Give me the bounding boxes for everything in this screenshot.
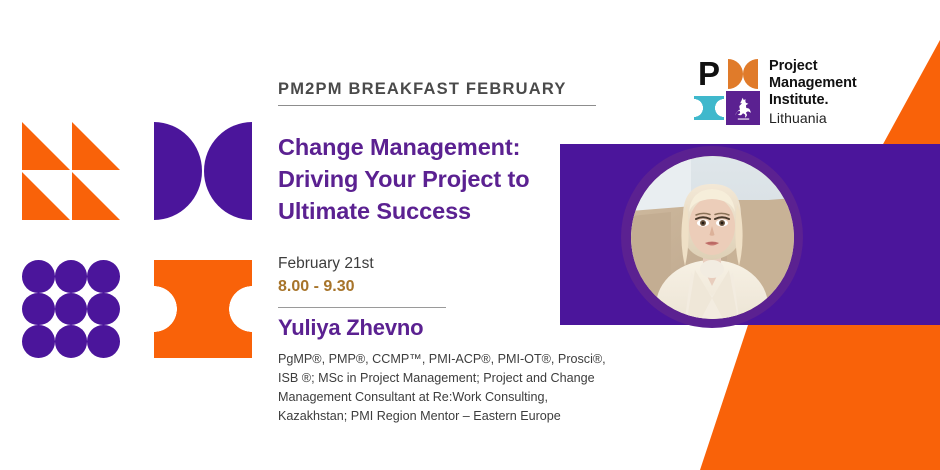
event-title-line-2: Driving Your Project to — [278, 164, 688, 196]
triangle-icon — [22, 122, 70, 170]
logo-name-line-1: Project — [769, 58, 857, 75]
orange-concave-square-icon — [154, 260, 252, 358]
pmi-lithuania-logo: P Proje — [692, 57, 857, 128]
speaker-name: Yuliya Zhevno — [278, 315, 688, 341]
triangle-icon — [22, 172, 70, 220]
orange-wedge-bottom-right — [700, 325, 940, 470]
credentials-line-3: Management Consultant at Re:Work Consult… — [278, 388, 678, 407]
half-disc-right — [204, 122, 252, 220]
logo-orange-half-left — [728, 59, 743, 89]
event-eyebrow: PM2PM BREAKFAST FEBRUARY — [278, 80, 688, 100]
pmi-logo-mark-icon: P — [692, 57, 760, 125]
dot-icon — [55, 293, 88, 326]
dot-icon — [22, 293, 55, 326]
event-title-line-1: Change Management: — [278, 132, 688, 164]
credentials-line-4: Kazakhstan; PMI Region Mentor – Eastern … — [278, 407, 678, 426]
logo-name-line-3: Institute. — [769, 92, 857, 109]
orange-triangle-grid-icon — [22, 122, 120, 220]
triangle-icon — [72, 122, 120, 170]
speaker-divider — [278, 307, 446, 309]
dot-icon — [22, 260, 55, 293]
speaker-photo — [631, 156, 794, 319]
logo-letter-p-glyph: P — [698, 57, 720, 90]
speaker-photo-ring — [621, 146, 803, 328]
pmi-logo-wordmark: Project Management Institute. Lithuania — [769, 57, 857, 128]
logo-letter-p-icon: P — [692, 57, 726, 91]
logo-orange-bowtie-icon — [726, 57, 760, 91]
dot-icon — [87, 260, 120, 293]
speaker-credentials: PgMP®, PMP®, CCMP™, PMI-ACP®, PMI-OT®, P… — [278, 350, 678, 426]
dot-icon — [55, 325, 88, 358]
vytis-knight-icon — [726, 91, 760, 125]
logo-chapter-name: Lithuania — [769, 110, 857, 128]
dot-icon — [55, 260, 88, 293]
logo-teal-bowtie-icon — [692, 91, 726, 125]
dot-icon — [87, 325, 120, 358]
event-time: 8.00 - 9.30 — [278, 276, 688, 298]
event-poster: PM2PM BREAKFAST FEBRUARY Change Manageme… — [0, 0, 940, 470]
orange-wedge-top-right — [882, 40, 940, 146]
logo-name-line-2: Management — [769, 75, 857, 92]
credentials-line-1: PgMP®, PMP®, CCMP™, PMI-ACP®, PMI-OT®, P… — [278, 350, 678, 369]
dot-icon — [22, 325, 55, 358]
dot-icon — [87, 293, 120, 326]
triangle-icon — [72, 172, 120, 220]
logo-orange-half-right — [743, 59, 758, 89]
purple-bowtie-icon — [154, 122, 252, 220]
eyebrow-underline — [278, 105, 596, 107]
decorative-shape-grid — [22, 122, 252, 358]
half-disc-left — [154, 122, 202, 220]
purple-dot-grid-icon — [22, 260, 120, 358]
credentials-line-2: ISB ®; MSc in Project Management; Projec… — [278, 369, 678, 388]
